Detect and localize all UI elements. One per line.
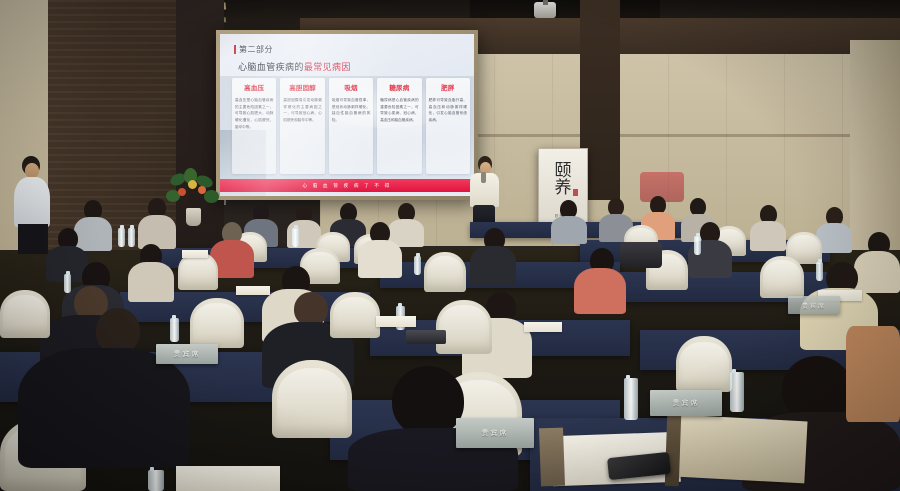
attendee-body — [128, 262, 174, 302]
table-tent-label: 贵宾席 — [673, 398, 700, 408]
attendee-head — [294, 292, 328, 326]
attendee-body — [74, 217, 112, 251]
table-tent-label: 贵宾席 — [802, 301, 826, 310]
slide-card: 肥胖 肥胖可导致血脂升高、高血压和动脉粥样硬化，引发心脑血管系统疾病。 — [426, 78, 470, 174]
conference-room-photo: 第二部分 心脑血管疾病的最常见病因 高血压 高血压是心脑血管疾病的主要危险因素之… — [0, 0, 900, 491]
table-tent-label: 贵宾席 — [482, 428, 509, 438]
right-wall-pillar — [850, 40, 900, 250]
table-tent-label: 贵宾席 — [174, 349, 201, 359]
attendee-body — [470, 246, 516, 286]
flower-arrangement — [164, 168, 226, 224]
flower — [188, 180, 197, 189]
water-bottle — [64, 274, 71, 293]
chair — [436, 300, 492, 354]
chair — [760, 256, 804, 298]
attendee-body — [358, 240, 402, 278]
vase — [186, 208, 201, 226]
water-bottle — [128, 228, 135, 247]
card-body: 糖尿病是心血管疾病的重要危险因素之一，可导致心肌病、冠心病、高血压和脑血管疾病。 — [380, 97, 418, 124]
notepad — [674, 415, 807, 484]
projection-screen: 第二部分 心脑血管疾病的最常见病因 高血压 高血压是心脑血管疾病的主要危险因素之… — [216, 30, 478, 200]
table-tent: 贵宾席 — [650, 390, 722, 416]
attendee-head — [25, 163, 39, 178]
chair — [676, 336, 732, 392]
notepad — [236, 286, 270, 295]
projector-mount — [543, 0, 548, 5]
attendee-trousers — [18, 224, 48, 254]
attendee-head — [392, 366, 464, 436]
chair — [0, 290, 50, 338]
poster-char-2: 养 — [539, 180, 587, 197]
attendee-shirt — [14, 177, 50, 227]
folder — [665, 414, 682, 486]
leaf — [204, 190, 219, 203]
water-bottle — [292, 228, 299, 247]
poster-seal-icon — [573, 189, 578, 196]
water-bottle — [816, 262, 823, 281]
chair — [272, 360, 352, 438]
card-body: 肥胖可导致血脂升高、高血压和动脉粥样硬化，引发心脑血管系统疾病。 — [429, 97, 467, 124]
attendee-body — [138, 215, 176, 249]
water-bottle — [118, 228, 125, 247]
table-tent: 贵宾席 — [788, 296, 840, 314]
folder — [539, 428, 565, 487]
chair — [190, 298, 244, 348]
notepad — [376, 316, 416, 327]
chair — [424, 252, 466, 292]
flower — [178, 188, 186, 196]
notepad — [182, 250, 208, 258]
water-bottle — [414, 256, 421, 275]
attendee-body — [574, 268, 626, 314]
attendee-body — [854, 251, 900, 293]
card-header: 肥胖 — [429, 82, 467, 92]
water-bottle — [170, 318, 179, 342]
handbag — [620, 242, 662, 268]
water-bottle — [148, 470, 164, 491]
attendee-body — [750, 221, 786, 251]
chair — [330, 292, 380, 338]
notepad — [524, 322, 562, 332]
table-tent: 贵宾席 — [156, 344, 218, 364]
notepad — [176, 466, 280, 491]
microphone-icon — [481, 172, 486, 183]
water-bottle — [730, 372, 744, 412]
table-tent: 贵宾席 — [456, 418, 534, 448]
water-bottle — [694, 236, 701, 255]
attendee-body — [18, 348, 190, 468]
flower — [198, 186, 206, 194]
attendee-body — [846, 326, 900, 422]
water-bottle — [624, 378, 638, 420]
attendee-body — [551, 216, 587, 244]
poster-calligraphy: 颐 养 — [539, 163, 587, 197]
tablet-device — [406, 330, 446, 344]
